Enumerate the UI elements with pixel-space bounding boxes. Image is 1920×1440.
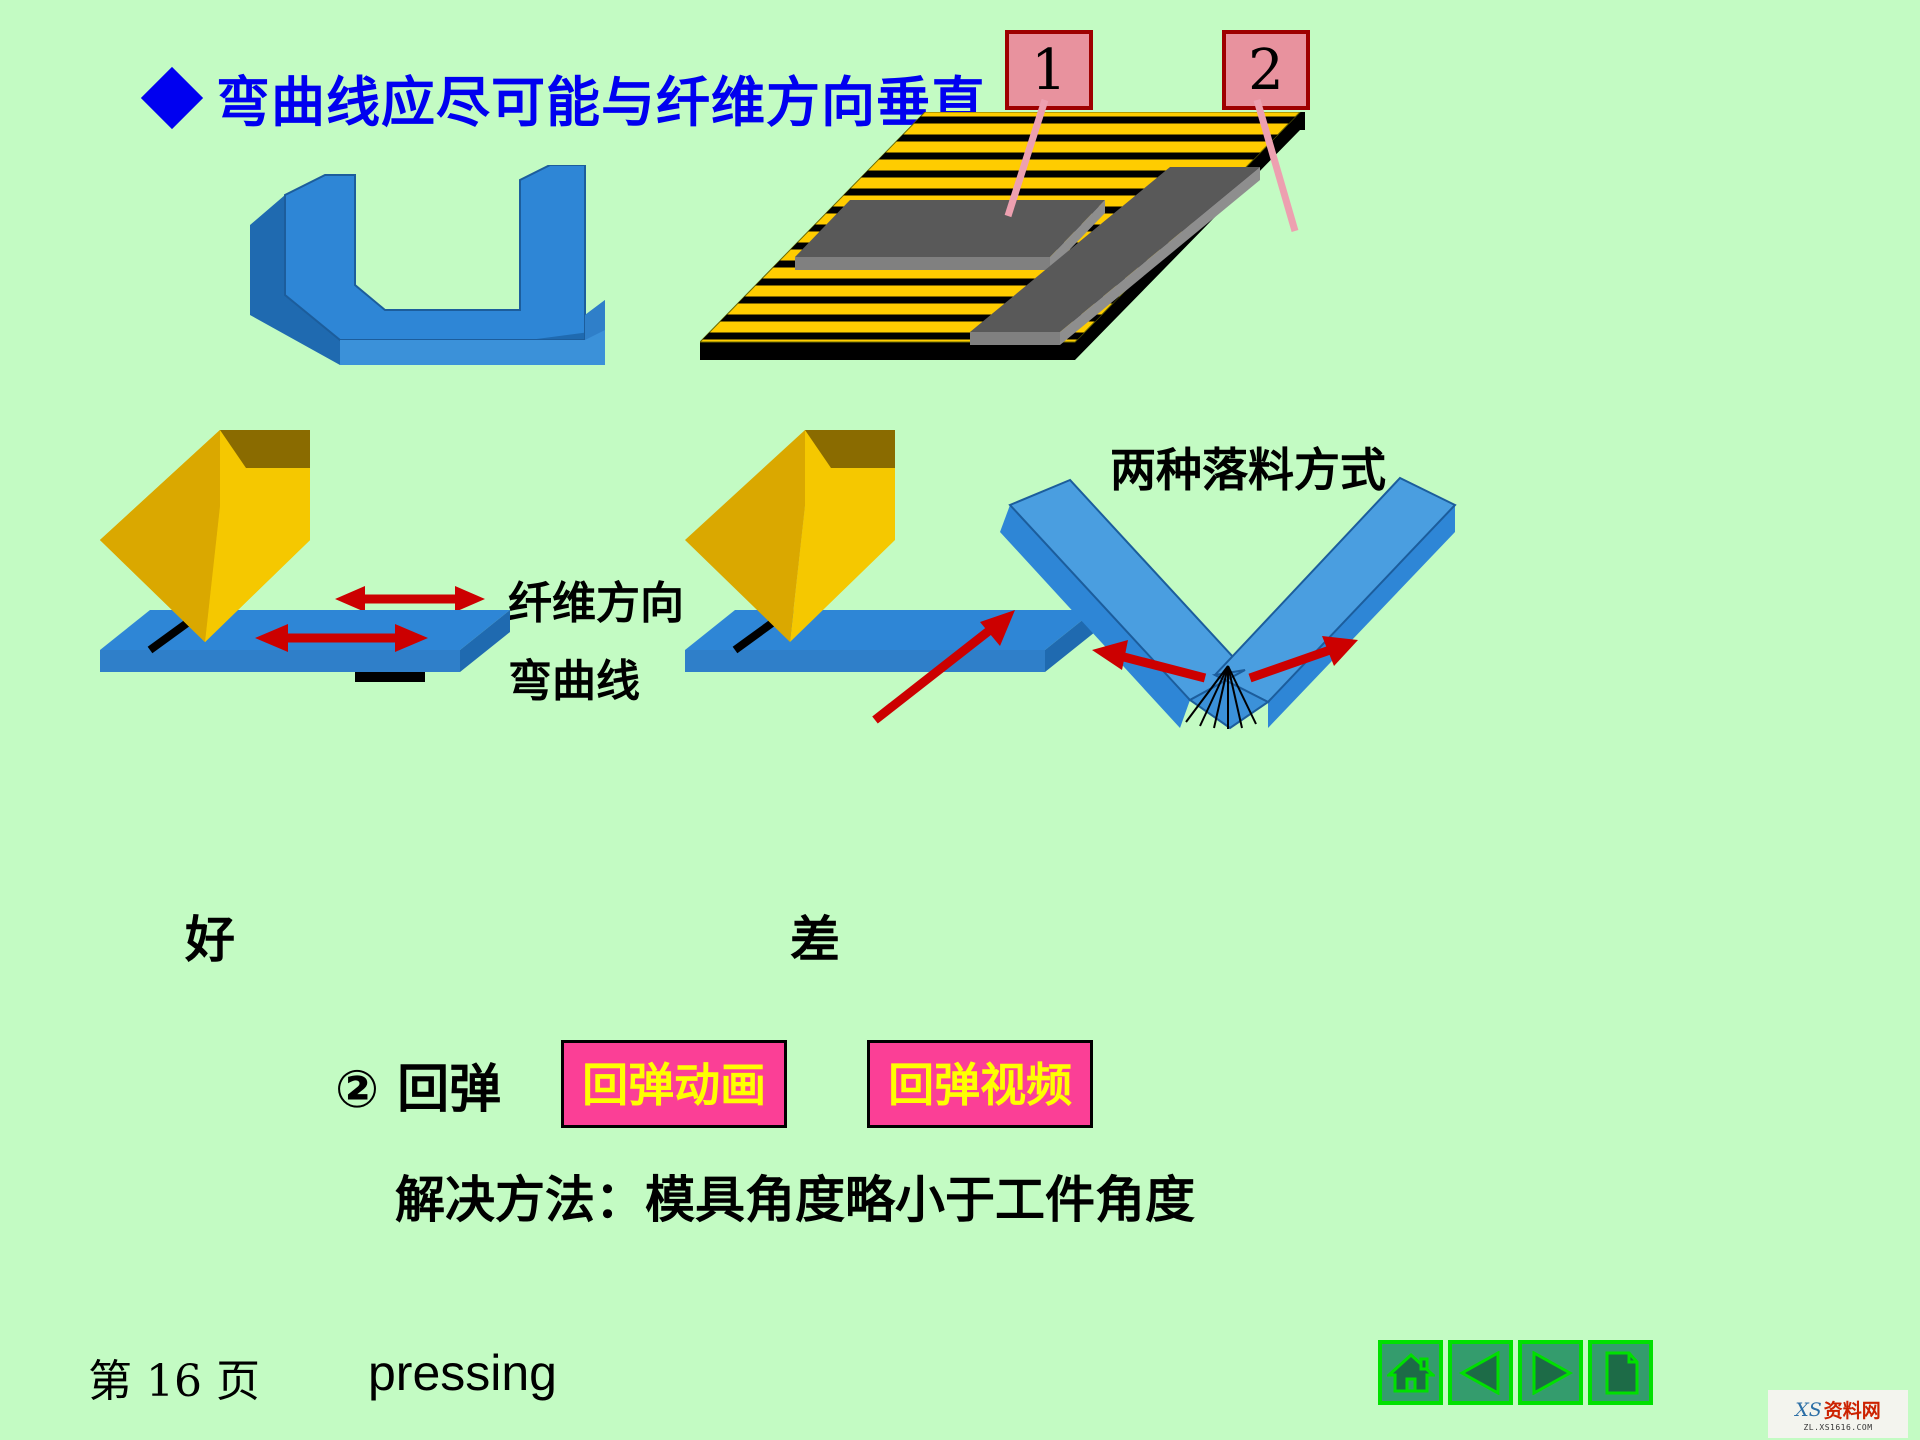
v-bend-crack-diagram xyxy=(1000,470,1480,760)
diamond-bullet-icon xyxy=(141,66,203,128)
springback-animation-button[interactable]: 回弹动画 xyxy=(561,1040,787,1128)
navigation-bar xyxy=(1378,1340,1653,1405)
u-channel-part xyxy=(230,165,630,375)
page-number-label: 第 16 页 xyxy=(88,1345,260,1409)
watermark-name: 资料网 xyxy=(1824,1396,1881,1423)
footer-subject-label: pressing xyxy=(368,1344,557,1402)
springback-section: ② 回弹 回弹动画 回弹视频 xyxy=(335,1040,1093,1128)
watermark: XS 资料网 ZL.XS1616.COM xyxy=(1768,1390,1908,1438)
bend-example-bad-label: 差 xyxy=(790,900,840,972)
slide-canvas: 弯曲线应尽可能与纤维方向垂直 xyxy=(0,0,1920,1440)
page-icon xyxy=(1599,1350,1643,1396)
watermark-url: ZL.XS1616.COM xyxy=(1803,1423,1872,1432)
watermark-mark: XS xyxy=(1795,1399,1822,1421)
bend-example-good-label: 好 xyxy=(185,900,235,972)
callout-1-leader-line xyxy=(990,98,1110,228)
nav-previous-button[interactable] xyxy=(1448,1340,1513,1405)
callout-2-leader-line xyxy=(1235,98,1365,243)
watermark-top: XS 资料网 xyxy=(1795,1396,1881,1423)
bend-example-good xyxy=(40,410,560,750)
springback-solution-text: 解决方法：模具角度略小于工件角度 xyxy=(395,1160,1195,1232)
springback-video-button[interactable]: 回弹视频 xyxy=(867,1040,1093,1128)
callout-1-label: 1 xyxy=(1031,38,1067,103)
home-icon xyxy=(1387,1351,1435,1395)
next-icon xyxy=(1528,1351,1574,1395)
nav-page-button[interactable] xyxy=(1588,1340,1653,1405)
springback-title: ② 回弹 xyxy=(335,1047,501,1122)
nav-next-button[interactable] xyxy=(1518,1340,1583,1405)
nav-home-button[interactable] xyxy=(1378,1340,1443,1405)
previous-icon xyxy=(1458,1351,1504,1395)
callout-2-label: 2 xyxy=(1248,38,1284,103)
